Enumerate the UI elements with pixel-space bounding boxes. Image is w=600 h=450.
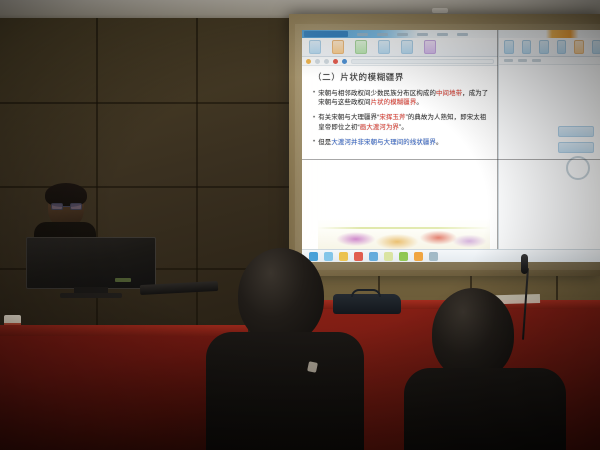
window-titlebar [302, 30, 498, 38]
wall-seam [0, 102, 300, 104]
monitor-screen[interactable] [26, 237, 156, 289]
monitor-logo [115, 278, 131, 282]
second-pane-toolbar[interactable] [499, 57, 600, 65]
forward-icon[interactable] [315, 59, 320, 64]
bullet-marker: • [313, 138, 315, 148]
menu-bar[interactable] [352, 31, 498, 37]
settings-icon[interactable] [429, 252, 438, 261]
bullet-segment-highlight: 宋挥玉斧 [379, 114, 405, 121]
refresh-icon[interactable] [324, 59, 329, 64]
slide-content: （二）片状的模糊疆界 • 宋朝与相邻政权间少数民族分布区构成的中间地带，成为了宋… [313, 71, 492, 147]
screen-seam [302, 159, 600, 160]
format-icon[interactable] [424, 40, 436, 54]
open-folder-icon[interactable] [332, 40, 344, 54]
shape-icon[interactable] [539, 40, 549, 54]
globe-icon[interactable] [342, 59, 347, 64]
laptop-bag [333, 294, 401, 314]
document-page[interactable]: （二）片状的模糊疆界 • 宋朝与相邻政权间少数民族分布区构成的中间地带，成为了宋… [302, 66, 498, 262]
explorer-icon[interactable] [324, 252, 333, 261]
tool-item[interactable] [532, 59, 541, 62]
menu-item-view[interactable] [457, 33, 468, 36]
bag-handle [351, 289, 381, 297]
taskbar[interactable] [302, 249, 600, 262]
new-document-icon[interactable] [309, 40, 321, 54]
menu-item-review[interactable] [437, 33, 448, 36]
back-icon[interactable] [306, 59, 311, 64]
second-pane-titlebar [499, 30, 600, 38]
folder-icon[interactable] [339, 252, 348, 261]
desktop-monitor [26, 237, 156, 299]
slide-bullet-1: • 宋朝与相邻政权间少数民族分布区构成的中间地带，成为了宋朝与这些政权间片状的模… [313, 89, 492, 108]
address-input[interactable] [351, 59, 494, 64]
browser-icon[interactable] [309, 252, 318, 261]
podium-desk-edge [0, 325, 248, 336]
ceiling-light-icon [432, 8, 448, 13]
print-icon[interactable] [378, 40, 390, 54]
glasses-lens-right [70, 203, 82, 210]
bullet-marker: • [313, 89, 315, 108]
second-pane-ribbon[interactable] [499, 38, 600, 57]
monitor-base [60, 293, 122, 298]
screen-seam [497, 30, 498, 262]
network-icon[interactable] [369, 252, 378, 261]
bullet-segment: ”。 [399, 124, 408, 131]
effect-icon[interactable] [592, 40, 600, 54]
slide-bullet-2: • 有关宋朝与大理疆界“宋挥玉斧”的典故为人熟知，即宋太祖皇帝即位之初“画大渡河… [313, 113, 492, 132]
tool-item[interactable] [518, 59, 527, 62]
bullet-text: 但是大渡河并非宋朝与大理间的线状疆界。 [318, 138, 442, 148]
bullet-segment: 但是 [318, 139, 331, 146]
preview-icon[interactable] [401, 40, 413, 54]
menu-item-file[interactable] [357, 33, 368, 36]
chart-icon[interactable] [522, 40, 532, 54]
glasses-bridge [63, 206, 70, 207]
menu-item-home[interactable] [377, 33, 388, 36]
bullet-segment: 有关宋朝与大理疆界“ [318, 114, 379, 121]
bullet-text: 宋朝与相邻政权间少数民族分布区构成的中间地带，成为了宋朝与这些政权间片状的模糊疆… [318, 89, 492, 108]
menu-item-page[interactable] [417, 33, 428, 36]
color-icon[interactable] [574, 40, 584, 54]
bullet-marker: • [313, 113, 315, 132]
map-divider [318, 227, 490, 229]
slide-bullet-3: • 但是大渡河并非宋朝与大理间的线状疆界。 [313, 138, 492, 148]
menu-item-insert[interactable] [397, 33, 408, 36]
tool-item[interactable] [504, 59, 513, 62]
lecture-hall-scene: （二）片状的模糊疆界 • 宋朝与相邻政权间少数民族分布区构成的中间地带，成为了宋… [0, 0, 600, 450]
task-pane-card[interactable] [558, 126, 594, 137]
address-bar[interactable] [302, 57, 498, 66]
notes-icon[interactable] [384, 252, 393, 261]
bullet-segment-highlight: 中间地带 [436, 90, 462, 97]
gooseneck-microphone[interactable] [521, 254, 528, 274]
audience-body [404, 368, 566, 450]
second-document-pane[interactable] [498, 30, 600, 262]
glasses-lens-left [51, 203, 63, 210]
text-icon[interactable] [557, 40, 567, 54]
bullet-segment-highlight: 片状的模糊疆界 [371, 99, 417, 106]
media-player-icon[interactable] [354, 252, 363, 261]
ribbon-toolbar[interactable] [302, 38, 498, 57]
bullet-segment-highlight: 画大渡河为界 [360, 124, 399, 131]
heart-icon[interactable] [333, 59, 338, 64]
task-pane-card[interactable] [558, 142, 594, 153]
historical-map-image [318, 218, 490, 252]
app-tab[interactable] [304, 31, 348, 37]
bullet-segment-highlight: 大渡河并非宋朝与大理间的线状疆界 [331, 139, 436, 146]
mail-icon[interactable] [399, 252, 408, 261]
bullet-segment: 。 [416, 99, 423, 106]
audience-head [432, 288, 514, 380]
bullet-segment: 宋朝与相邻政权间少数民族分布区构成的 [318, 90, 436, 97]
calculator-icon[interactable] [414, 252, 423, 261]
bullet-text: 有关宋朝与大理疆界“宋挥玉斧”的典故为人熟知，即宋太祖皇帝即位之初“画大渡河为界… [318, 113, 492, 132]
audience-head [238, 248, 324, 344]
save-icon[interactable] [355, 40, 367, 54]
table-icon[interactable] [504, 40, 514, 54]
bullet-segment: 。 [436, 139, 443, 146]
audience-body [206, 332, 364, 450]
projection-screen[interactable]: （二）片状的模糊疆界 • 宋朝与相邻政权间少数民族分布区构成的中间地带，成为了宋… [302, 30, 600, 262]
slide-heading: （二）片状的模糊疆界 [313, 71, 492, 84]
glasses-icon [51, 203, 82, 210]
